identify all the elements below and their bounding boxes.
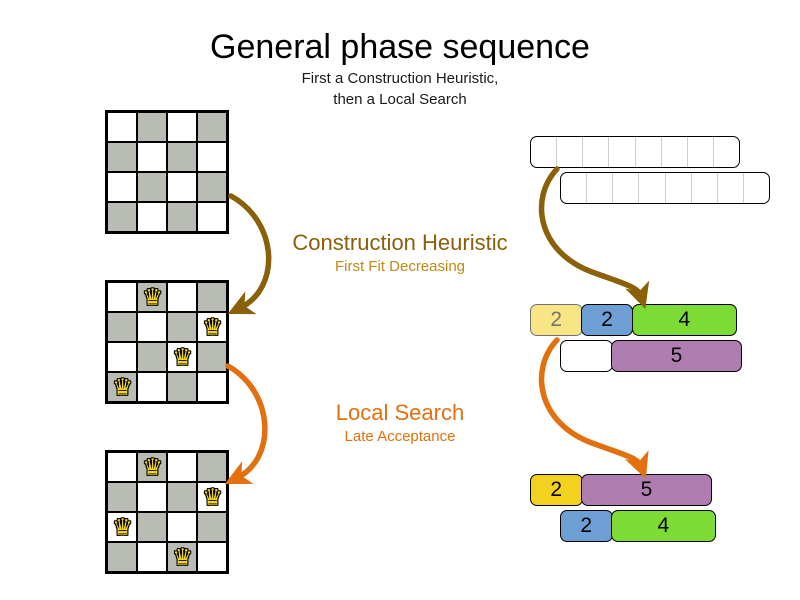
board-cell [167, 452, 197, 482]
board-cell [197, 282, 227, 312]
diagram-canvas: General phase sequence First a Construct… [0, 0, 800, 600]
board-cell [167, 172, 197, 202]
board-cell [107, 172, 137, 202]
board-cell [107, 282, 137, 312]
board-cell [137, 542, 167, 572]
board-cell [107, 482, 137, 512]
queen-icon: ♛ [198, 483, 228, 513]
binpacking-local-search-bin-2-item-2: 4 [611, 510, 716, 542]
board-cell [167, 112, 197, 142]
bin-slot [561, 173, 587, 203]
bin-slot [636, 137, 662, 167]
binpacking-local-search-bin-1-item-2: 5 [581, 474, 712, 506]
bin-capacity-gridlines [561, 173, 769, 203]
nqueens-board-construction: ♛♛♛♛ [105, 280, 229, 404]
queen-icon: ♛ [198, 313, 228, 343]
board-cell [107, 452, 137, 482]
board-cell [107, 342, 137, 372]
board-cell [137, 512, 167, 542]
bin-slot [714, 137, 739, 167]
board-cell [167, 372, 197, 402]
board-cell [107, 142, 137, 172]
board-cell [107, 312, 137, 342]
queen-icon: ♛ [108, 513, 138, 543]
phase-title-local-search: Local Search [250, 400, 550, 426]
board-cell [197, 372, 227, 402]
queen-icon: ♛ [168, 343, 198, 373]
board-cell: ♛ [167, 342, 197, 372]
bin-slot [531, 137, 557, 167]
board-cell [167, 202, 197, 232]
binpacking-local-search-bin-2-item-1: 2 [560, 510, 613, 542]
binpacking-initial-bin-2 [560, 172, 770, 204]
binpacking-construction-bin-2-item-1 [560, 340, 613, 372]
queen-icon: ♛ [168, 543, 198, 573]
board-cell [137, 142, 167, 172]
bin-slot [557, 137, 583, 167]
bin-slot [662, 137, 688, 167]
board-cell [167, 312, 197, 342]
bin-slot [587, 173, 613, 203]
nqueens-board-local-search: ♛♛♛♛ [105, 450, 229, 574]
queen-icon: ♛ [108, 373, 138, 403]
board-cell [167, 282, 197, 312]
board-cell [137, 112, 167, 142]
board-cell [107, 112, 137, 142]
bin-slot [666, 173, 692, 203]
page-subtitle-line-2: then a Local Search [0, 89, 800, 110]
page-subtitle-line-1: First a Construction Heuristic, [0, 68, 800, 89]
phase-subtitle-construction-heuristic: First Fit Decreasing [250, 256, 550, 277]
bin-slot [609, 137, 635, 167]
bin-slot [744, 173, 769, 203]
board-cell [137, 482, 167, 512]
page-subtitle: First a Construction Heuristic, then a L… [0, 68, 800, 110]
binpacking-construction-bin-1-item-1: 2 [530, 304, 583, 336]
board-cell [197, 142, 227, 172]
bin-slot [718, 173, 744, 203]
board-cell [197, 452, 227, 482]
board-cell [197, 542, 227, 572]
phase-label-local-search: Local Search Late Acceptance [250, 400, 550, 447]
binpacking-initial-bin-1 [530, 136, 740, 168]
board-cell [137, 202, 167, 232]
bin-slot [613, 173, 639, 203]
page-title: General phase sequence [0, 28, 800, 67]
board-cell [137, 172, 167, 202]
bin-slot [583, 137, 609, 167]
board-cell [167, 512, 197, 542]
queen-icon: ♛ [138, 453, 168, 483]
board-cell: ♛ [137, 282, 167, 312]
board-cell: ♛ [107, 372, 137, 402]
bin-slot [692, 173, 718, 203]
board-cell [137, 372, 167, 402]
binpacking-construction-bin-1-item-3: 4 [632, 304, 737, 336]
board-cell [137, 342, 167, 372]
board-cell [197, 342, 227, 372]
board-cell [107, 542, 137, 572]
board-cell [167, 482, 197, 512]
queen-icon: ♛ [138, 283, 168, 313]
bin-slot [639, 173, 665, 203]
board-cell [197, 512, 227, 542]
board-cell [197, 112, 227, 142]
board-cell: ♛ [137, 452, 167, 482]
board-cell: ♛ [197, 482, 227, 512]
board-cell [107, 202, 137, 232]
nqueens-board-empty [105, 110, 229, 234]
board-cell [197, 202, 227, 232]
binpacking-construction-bin-2-item-2: 5 [611, 340, 742, 372]
phase-label-construction-heuristic: Construction Heuristic First Fit Decreas… [250, 230, 550, 277]
phase-title-construction-heuristic: Construction Heuristic [250, 230, 550, 256]
board-cell: ♛ [167, 542, 197, 572]
board-cell: ♛ [197, 312, 227, 342]
board-cell: ♛ [107, 512, 137, 542]
phase-subtitle-local-search: Late Acceptance [250, 426, 550, 447]
board-cell [167, 142, 197, 172]
binpacking-local-search-bin-1-item-1: 2 [530, 474, 583, 506]
board-cell [197, 172, 227, 202]
board-cell [137, 312, 167, 342]
bin-slot [688, 137, 714, 167]
binpacking-construction-bin-1-item-2: 2 [581, 304, 634, 336]
bin-capacity-gridlines [531, 137, 739, 167]
